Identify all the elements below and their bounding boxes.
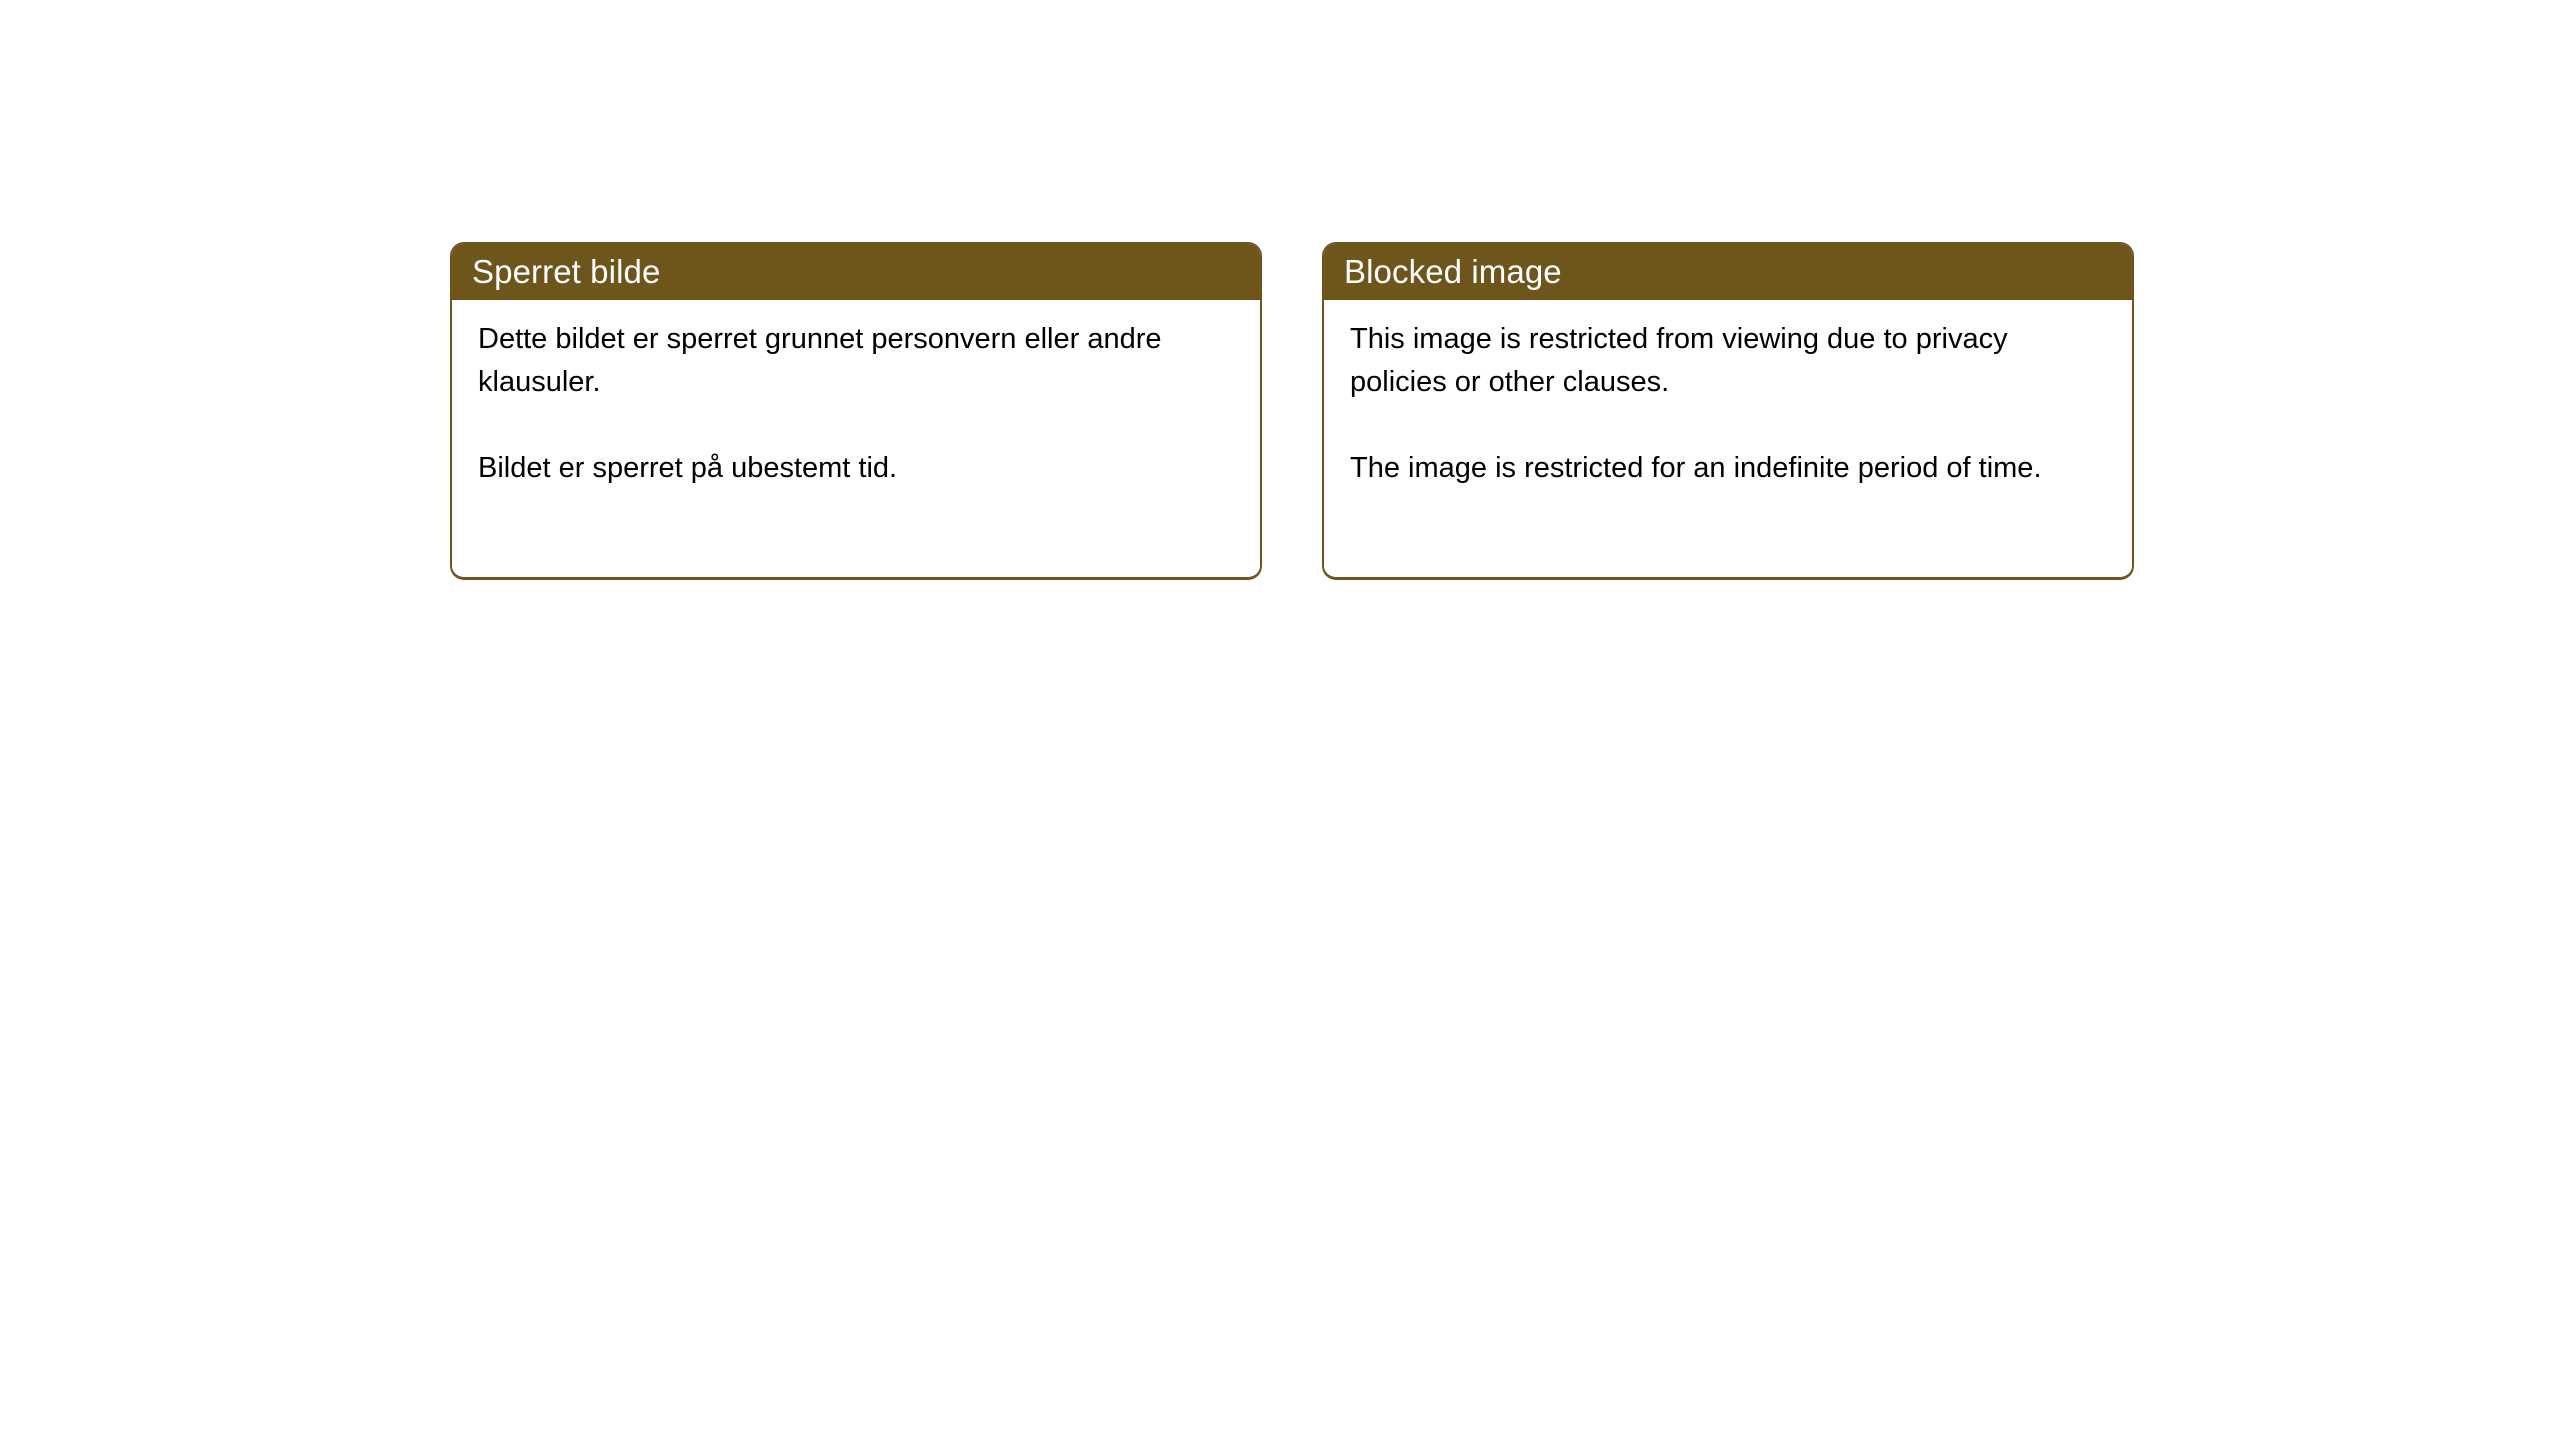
card-paragraph-duration-english: The image is restricted for an indefinit… <box>1350 447 2106 490</box>
card-paragraph-reason-english: This image is restricted from viewing du… <box>1350 318 2106 404</box>
card-title-english: Blocked image <box>1344 255 1562 288</box>
page-canvas: Sperret bilde Dette bildet er sperret gr… <box>0 0 2560 1440</box>
blocked-image-notice-card-english: Blocked image This image is restricted f… <box>1322 242 2134 580</box>
blocked-image-notice-card-norwegian: Sperret bilde Dette bildet er sperret gr… <box>450 242 1262 580</box>
card-body-norwegian: Dette bildet er sperret grunnet personve… <box>452 300 1260 510</box>
card-title-norwegian: Sperret bilde <box>472 255 660 288</box>
card-body-english: This image is restricted from viewing du… <box>1324 300 2132 510</box>
card-paragraph-duration-norwegian: Bildet er sperret på ubestemt tid. <box>478 447 1234 490</box>
card-header-norwegian: Sperret bilde <box>450 242 1262 300</box>
card-paragraph-reason-norwegian: Dette bildet er sperret grunnet personve… <box>478 318 1234 404</box>
card-header-english: Blocked image <box>1322 242 2134 300</box>
